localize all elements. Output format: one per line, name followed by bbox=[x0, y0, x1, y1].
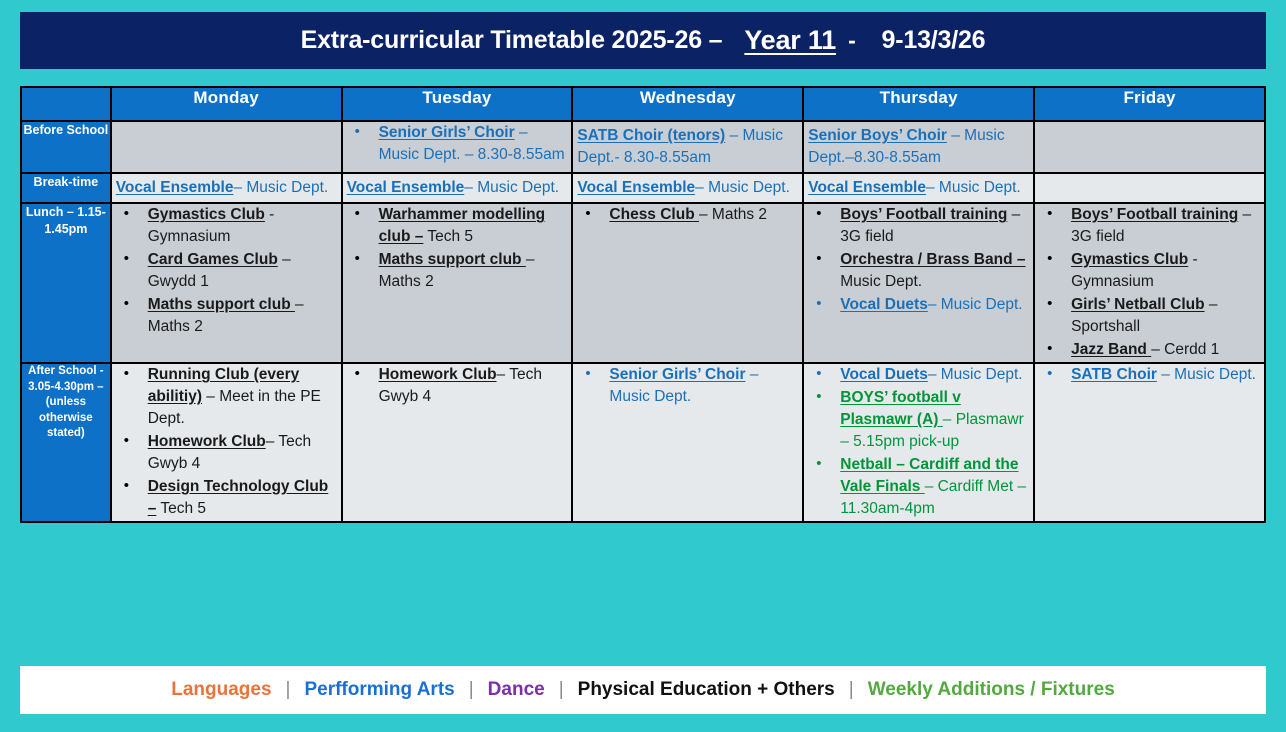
day-header-wednesday: Wednesday bbox=[572, 87, 803, 121]
activity-item[interactable]: Jazz Band – Cerdd 1 bbox=[1035, 339, 1264, 361]
timetable-row-before-school: Before SchoolSenior Girls’ Choir – Music… bbox=[21, 121, 1265, 173]
activity-detail: – Music Dept. bbox=[695, 179, 790, 196]
activity-name: Orchestra / Brass Band – bbox=[840, 251, 1025, 268]
activity-item[interactable]: Orchestra / Brass Band – Music Dept. bbox=[804, 249, 1033, 293]
cell-break-time-tuesday: Vocal Ensemble– Music Dept. bbox=[342, 173, 573, 203]
activity-item[interactable]: Gymastics Club - Gymnasium bbox=[112, 204, 341, 248]
legend-item-perfforming-arts: Perfforming Arts bbox=[304, 679, 454, 701]
timetable-page: Extra-curricular Timetable 2025-26 –Year… bbox=[0, 0, 1286, 732]
table-corner-cell bbox=[21, 87, 111, 121]
activity-item[interactable]: SATB Choir – Music Dept. bbox=[1035, 364, 1264, 386]
activity-item[interactable]: Vocal Ensemble– Music Dept. bbox=[343, 174, 572, 202]
cell-lunch-thursday: Boys’ Football training – 3G fieldOrches… bbox=[803, 203, 1034, 363]
activity-name: Jazz Band bbox=[1071, 341, 1151, 358]
extracurricular-timetable: Monday Tuesday Wednesday Thursday Friday… bbox=[20, 86, 1266, 523]
row-label-before-school: Before School bbox=[21, 121, 111, 173]
activity-name: Card Games Club bbox=[148, 251, 278, 268]
activity-item[interactable]: Chess Club – Maths 2 bbox=[573, 204, 802, 226]
activity-name: Maths support club bbox=[379, 251, 526, 268]
cell-before-school-monday bbox=[111, 121, 342, 173]
activity-list: Senior Girls’ Choir – Music Dept. bbox=[573, 364, 802, 408]
cell-lunch-friday: Boys’ Football training – 3G fieldGymast… bbox=[1034, 203, 1265, 363]
legend-separator: | bbox=[835, 679, 868, 701]
cell-break-time-monday: Vocal Ensemble– Music Dept. bbox=[111, 173, 342, 203]
legend-separator: | bbox=[545, 679, 578, 701]
timetable-body: Before SchoolSenior Girls’ Choir – Music… bbox=[21, 121, 1265, 522]
activity-item[interactable]: BOYS’ football v Plasmawr (A) – Plasmawr… bbox=[804, 387, 1033, 453]
activity-name: Vocal Ensemble bbox=[116, 179, 234, 196]
day-header-thursday: Thursday bbox=[803, 87, 1034, 121]
cell-before-school-wednesday: SATB Choir (tenors) – Music Dept.- 8.30-… bbox=[572, 121, 803, 173]
activity-list: Homework Club– Tech Gwyb 4 bbox=[343, 364, 572, 408]
activity-detail: Music Dept. bbox=[840, 273, 922, 290]
cell-after-school-tuesday: Homework Club– Tech Gwyb 4 bbox=[342, 363, 573, 522]
activity-name: Vocal Ensemble bbox=[577, 179, 695, 196]
activity-name: SATB Choir (tenors) bbox=[577, 127, 725, 144]
legend-item-physical-education-others: Physical Education + Others bbox=[578, 679, 835, 701]
activity-list: Chess Club – Maths 2 bbox=[573, 204, 802, 226]
title-date-range: 9-13/3/26 bbox=[882, 26, 986, 55]
activity-detail: – Cerdd 1 bbox=[1151, 341, 1219, 358]
legend-item-languages: Languages bbox=[171, 679, 271, 701]
timetable-row-after-school: After School - 3.05-4.30pm – (unless oth… bbox=[21, 363, 1265, 522]
activity-list: Senior Girls’ Choir – Music Dept. – 8.30… bbox=[343, 122, 572, 166]
cell-before-school-friday bbox=[1034, 121, 1265, 173]
activity-item[interactable]: Running Club (every abilitiy) – Meet in … bbox=[112, 364, 341, 430]
activity-item[interactable]: Maths support club – Maths 2 bbox=[343, 249, 572, 293]
activity-item[interactable]: Vocal Duets– Music Dept. bbox=[804, 294, 1033, 316]
activity-item[interactable]: Homework Club– Tech Gwyb 4 bbox=[112, 431, 341, 475]
activity-item[interactable]: Boys’ Football training – 3G field bbox=[1035, 204, 1264, 248]
activity-name: Maths support club bbox=[148, 296, 295, 313]
title-main-text: Extra-curricular Timetable 2025-26 – bbox=[301, 26, 723, 55]
activity-name: Boys’ Football training bbox=[1071, 206, 1238, 223]
cell-after-school-monday: Running Club (every abilitiy) – Meet in … bbox=[111, 363, 342, 522]
activity-item[interactable]: Maths support club – Maths 2 bbox=[112, 294, 341, 338]
activity-item[interactable]: Senior Boys’ Choir – Music Dept.–8.30-8.… bbox=[804, 122, 1033, 172]
day-header-friday: Friday bbox=[1034, 87, 1265, 121]
day-header-monday: Monday bbox=[111, 87, 342, 121]
title-dash: - bbox=[848, 27, 855, 54]
activity-name: Vocal Duets bbox=[840, 296, 928, 313]
row-label-after-school: After School - 3.05-4.30pm – (unless oth… bbox=[21, 363, 111, 522]
activity-item[interactable]: Gymastics Club - Gymnasium bbox=[1035, 249, 1264, 293]
activity-detail: – Music Dept. bbox=[926, 179, 1021, 196]
activity-item[interactable]: Netball – Cardiff and the Vale Finals – … bbox=[804, 454, 1033, 520]
activity-detail: – Maths 2 bbox=[699, 206, 767, 223]
activity-list: Boys’ Football training – 3G fieldGymast… bbox=[1035, 204, 1264, 361]
row-label-lunch: Lunch – 1.15-1.45pm bbox=[21, 203, 111, 363]
activity-item[interactable]: Warhammer modelling club – Tech 5 bbox=[343, 204, 572, 248]
cell-lunch-wednesday: Chess Club – Maths 2 bbox=[572, 203, 803, 363]
activity-name: Senior Boys’ Choir bbox=[808, 127, 947, 144]
activity-detail: – Music Dept. bbox=[928, 296, 1023, 313]
timetable-row-break-time: Break-timeVocal Ensemble– Music Dept.Voc… bbox=[21, 173, 1265, 203]
activity-name: Vocal Duets bbox=[840, 366, 928, 383]
activity-item[interactable]: Senior Girls’ Choir – Music Dept. bbox=[573, 364, 802, 408]
activity-item[interactable]: Vocal Duets– Music Dept. bbox=[804, 364, 1033, 386]
activity-item[interactable]: Card Games Club – Gwydd 1 bbox=[112, 249, 341, 293]
timetable-row-lunch: Lunch – 1.15-1.45pmGymastics Club - Gymn… bbox=[21, 203, 1265, 363]
activity-name: Chess Club bbox=[609, 206, 699, 223]
activity-name: Gymastics Club bbox=[1071, 251, 1188, 268]
activity-item[interactable]: Boys’ Football training – 3G field bbox=[804, 204, 1033, 248]
activity-item[interactable]: SATB Choir (tenors) – Music Dept.- 8.30-… bbox=[573, 122, 802, 172]
activity-name: Senior Girls’ Choir bbox=[609, 366, 745, 383]
cell-before-school-tuesday: Senior Girls’ Choir – Music Dept. – 8.30… bbox=[342, 121, 573, 173]
legend-item-dance: Dance bbox=[488, 679, 545, 701]
cell-lunch-tuesday: Warhammer modelling club – Tech 5Maths s… bbox=[342, 203, 573, 363]
cell-break-time-wednesday: Vocal Ensemble– Music Dept. bbox=[572, 173, 803, 203]
day-header-tuesday: Tuesday bbox=[342, 87, 573, 121]
activity-detail: Tech 5 bbox=[423, 228, 473, 245]
activity-item[interactable]: Design Technology Club – Tech 5 bbox=[112, 476, 341, 520]
activity-item[interactable]: Girls’ Netball Club – Sportshall bbox=[1035, 294, 1264, 338]
row-label-break-time: Break-time bbox=[21, 173, 111, 203]
activity-detail: Tech 5 bbox=[156, 500, 206, 517]
cell-break-time-friday bbox=[1034, 173, 1265, 203]
cell-lunch-monday: Gymastics Club - GymnasiumCard Games Clu… bbox=[111, 203, 342, 363]
table-header-row: Monday Tuesday Wednesday Thursday Friday bbox=[21, 87, 1265, 121]
activity-detail: – Music Dept. bbox=[928, 366, 1023, 383]
activity-name: Senior Girls’ Choir bbox=[379, 124, 515, 141]
activity-name: Girls’ Netball Club bbox=[1071, 296, 1205, 313]
cell-after-school-friday: SATB Choir – Music Dept. bbox=[1034, 363, 1265, 522]
activity-name: SATB Choir bbox=[1071, 366, 1157, 383]
activity-name: Homework Club bbox=[379, 366, 497, 383]
legend-separator: | bbox=[455, 679, 488, 701]
activity-detail: – Music Dept. bbox=[233, 179, 328, 196]
activity-name: Vocal Ensemble bbox=[808, 179, 926, 196]
activity-name: Gymastics Club bbox=[148, 206, 265, 223]
title-year-label: Year 11 bbox=[744, 25, 836, 56]
legend-item-weekly-additions-fixtures: Weekly Additions / Fixtures bbox=[868, 679, 1115, 701]
activity-item[interactable]: Homework Club– Tech Gwyb 4 bbox=[343, 364, 572, 408]
activity-name: Homework Club bbox=[148, 433, 266, 450]
activity-list: Vocal Duets– Music Dept.BOYS’ football v… bbox=[804, 364, 1033, 520]
activity-item[interactable]: Vocal Ensemble– Music Dept. bbox=[573, 174, 802, 202]
page-title-banner: Extra-curricular Timetable 2025-26 –Year… bbox=[20, 12, 1266, 69]
activity-list: Gymastics Club - GymnasiumCard Games Clu… bbox=[112, 204, 341, 338]
legend-separator: | bbox=[272, 679, 305, 701]
activity-list: Running Club (every abilitiy) – Meet in … bbox=[112, 364, 341, 520]
activity-list: SATB Choir – Music Dept. bbox=[1035, 364, 1264, 386]
activity-item[interactable]: Senior Girls’ Choir – Music Dept. – 8.30… bbox=[343, 122, 572, 166]
activity-name: Vocal Ensemble bbox=[347, 179, 465, 196]
activity-item[interactable]: Vocal Ensemble– Music Dept. bbox=[112, 174, 341, 202]
activity-name: Boys’ Football training bbox=[840, 206, 1007, 223]
cell-after-school-wednesday: Senior Girls’ Choir – Music Dept. bbox=[572, 363, 803, 522]
activity-list: Boys’ Football training – 3G fieldOrches… bbox=[804, 204, 1033, 316]
activity-list: Warhammer modelling club – Tech 5Maths s… bbox=[343, 204, 572, 293]
cell-before-school-thursday: Senior Boys’ Choir – Music Dept.–8.30-8.… bbox=[803, 121, 1034, 173]
cell-after-school-thursday: Vocal Duets– Music Dept.BOYS’ football v… bbox=[803, 363, 1034, 522]
cell-break-time-thursday: Vocal Ensemble– Music Dept. bbox=[803, 173, 1034, 203]
activity-detail: – Music Dept. bbox=[464, 179, 559, 196]
category-legend: Languages|Perfforming Arts|Dance|Physica… bbox=[20, 666, 1266, 714]
activity-item[interactable]: Vocal Ensemble– Music Dept. bbox=[804, 174, 1033, 202]
activity-detail: – Music Dept. bbox=[1157, 366, 1256, 383]
